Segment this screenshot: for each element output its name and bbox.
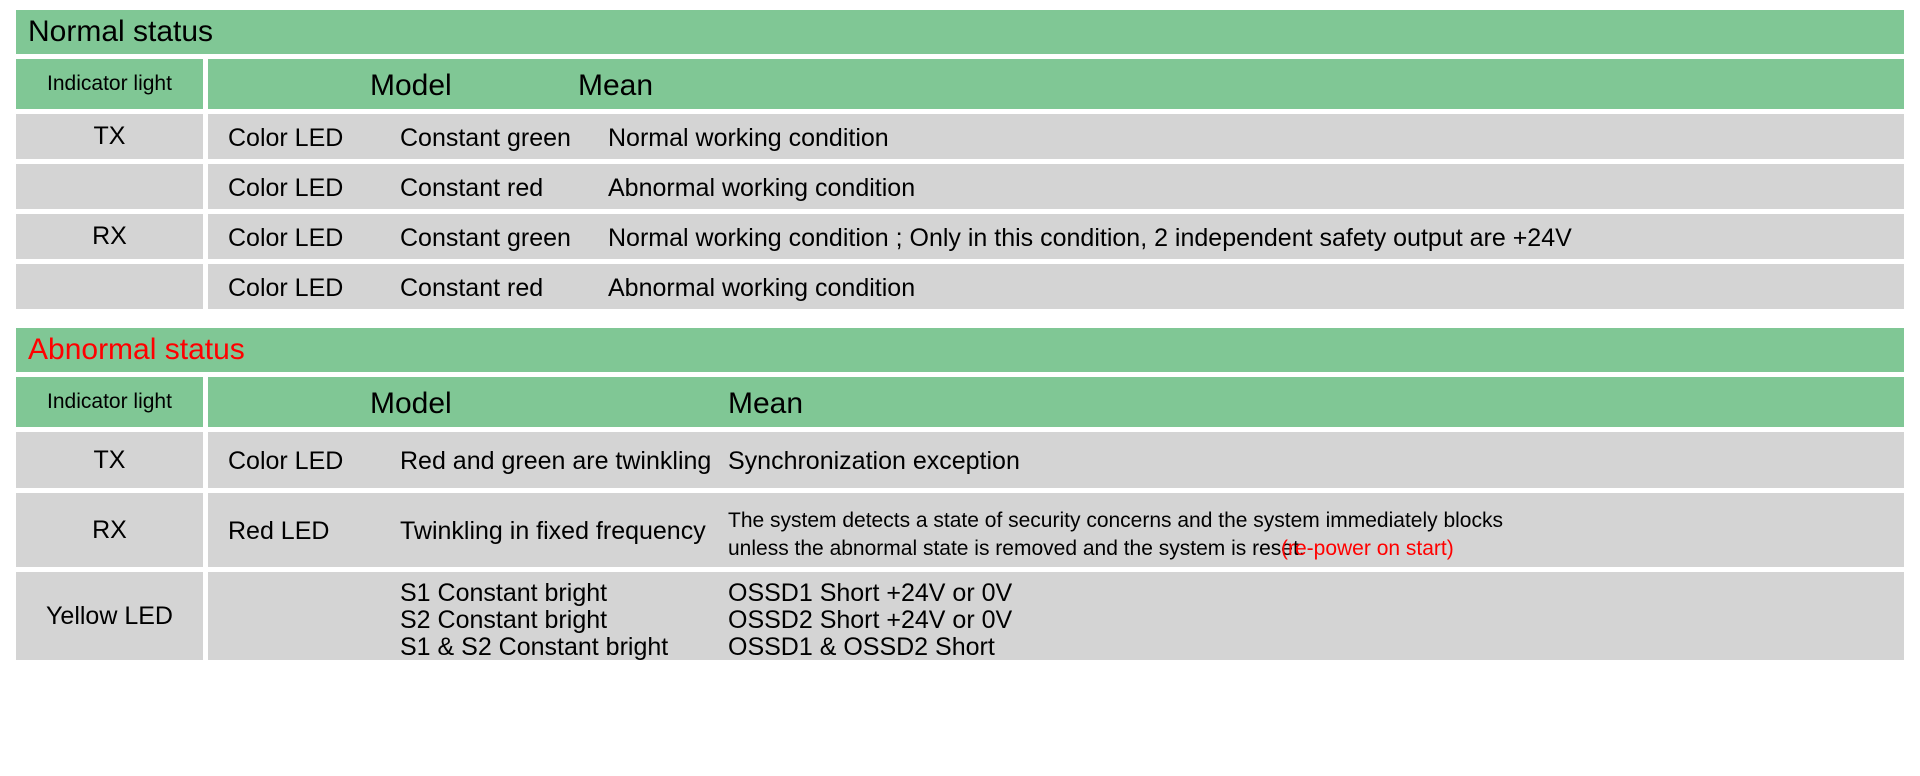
abnormal-row1-indicator: RX (92, 516, 127, 545)
normal-row2-indicator: RX (92, 222, 127, 251)
abnormal-header-rest-cell: Model Mean (208, 377, 1904, 427)
abnormal-row0-indicator: TX (94, 446, 126, 475)
abnormal-status-table: Abnormal status Indicator light Model Me… (16, 328, 1904, 660)
abnormal-row2-mean-line3: OSSD1 & OSSD2 Short (728, 633, 995, 661)
normal-row2-led: Color LED (228, 224, 343, 252)
abnormal-row2-rest-cell: S1 Constant bright S2 Constant bright S1… (208, 572, 1904, 660)
abnormal-table-header-row: Indicator light Model Mean (16, 377, 1904, 427)
normal-header-indicator-label: Indicator light (47, 72, 172, 96)
normal-status-title-bar: Normal status (16, 10, 1904, 54)
normal-row2-indicator-cell: RX (16, 214, 203, 259)
abnormal-row1-indicator-cell: RX (16, 493, 203, 567)
normal-header-model-label: Model (370, 71, 452, 101)
normal-row0-rest-cell: Color LED Constant green Normal working … (208, 114, 1904, 159)
abnormal-status-title-bar: Abnormal status (16, 328, 1904, 372)
normal-row1-indicator-cell (16, 164, 203, 209)
table-row: Color LED Constant red Abnormal working … (16, 164, 1904, 209)
abnormal-status-title: Abnormal status (28, 335, 245, 365)
abnormal-row1-rest-cell: Red LED Twinkling in fixed frequency The… (208, 493, 1904, 567)
table-row: Yellow LED S1 Constant bright S2 Constan… (16, 572, 1904, 660)
normal-table-header-row: Indicator light Model Mean (16, 59, 1904, 109)
abnormal-row2-mean-line2: OSSD2 Short +24V or 0V (728, 606, 1012, 634)
abnormal-row0-led: Color LED (228, 447, 343, 475)
abnormal-row1-model: Twinkling in fixed frequency (400, 517, 706, 545)
normal-row0-mean: Normal working condition (608, 124, 889, 152)
abnormal-header-model-label: Model (370, 389, 452, 419)
normal-row3-mean: Abnormal working condition (608, 274, 915, 302)
normal-row2-rest-cell: Color LED Constant green Normal working … (208, 214, 1904, 259)
table-row: RX Color LED Constant green Normal worki… (16, 214, 1904, 259)
abnormal-row2-model-line3: S1 & S2 Constant bright (400, 633, 668, 661)
normal-row3-model: Constant red (400, 274, 543, 302)
normal-row3-rest-cell: Color LED Constant red Abnormal working … (208, 264, 1904, 309)
normal-row1-rest-cell: Color LED Constant red Abnormal working … (208, 164, 1904, 209)
abnormal-row1-led: Red LED (228, 517, 329, 545)
normal-header-indicator-cell: Indicator light (16, 59, 203, 109)
normal-row3-led: Color LED (228, 274, 343, 302)
abnormal-header-indicator-cell: Indicator light (16, 377, 203, 427)
table-row: TX Color LED Constant green Normal worki… (16, 114, 1904, 159)
normal-status-table: Normal status Indicator light Model Mean… (16, 10, 1904, 309)
normal-row2-mean: Normal working condition ; Only in this … (608, 224, 1572, 252)
abnormal-row2-mean-line1: OSSD1 Short +24V or 0V (728, 579, 1012, 607)
abnormal-row0-mean: Synchronization exception (728, 447, 1020, 475)
normal-header-rest-cell: Model Mean (208, 59, 1904, 109)
abnormal-row2-indicator-cell: Yellow LED (16, 572, 203, 660)
normal-header-mean-label: Mean (578, 71, 653, 101)
normal-row1-led: Color LED (228, 174, 343, 202)
page-root: Normal status Indicator light Model Mean… (0, 0, 1920, 776)
table-row: Color LED Constant red Abnormal working … (16, 264, 1904, 309)
normal-row0-led: Color LED (228, 124, 343, 152)
abnormal-row2-model-line1: S1 Constant bright (400, 579, 607, 607)
table-row: TX Color LED Red and green are twinkling… (16, 432, 1904, 488)
normal-row0-model: Constant green (400, 124, 571, 152)
abnormal-row1-mean-note: (re-power on start) (1281, 535, 1454, 563)
abnormal-row0-indicator-cell: TX (16, 432, 203, 488)
normal-row0-indicator-cell: TX (16, 114, 203, 159)
abnormal-row2-model-line2: S2 Constant bright (400, 606, 607, 634)
table-row: RX Red LED Twinkling in fixed frequency … (16, 493, 1904, 567)
abnormal-row2-indicator: Yellow LED (46, 602, 173, 631)
abnormal-header-mean-label: Mean (728, 389, 803, 419)
abnormal-row0-rest-cell: Color LED Red and green are twinkling Sy… (208, 432, 1904, 488)
normal-row2-model: Constant green (400, 224, 571, 252)
normal-row1-mean: Abnormal working condition (608, 174, 915, 202)
abnormal-row1-mean-line1: The system detects a state of security c… (728, 507, 1503, 535)
normal-row1-model: Constant red (400, 174, 543, 202)
normal-row0-indicator: TX (94, 122, 126, 151)
normal-row3-indicator-cell (16, 264, 203, 309)
abnormal-header-indicator-label: Indicator light (47, 390, 172, 414)
abnormal-row0-model: Red and green are twinkling (400, 447, 711, 475)
abnormal-row1-mean-line2: unless the abnormal state is removed and… (728, 535, 1305, 563)
normal-status-title: Normal status (28, 17, 213, 47)
